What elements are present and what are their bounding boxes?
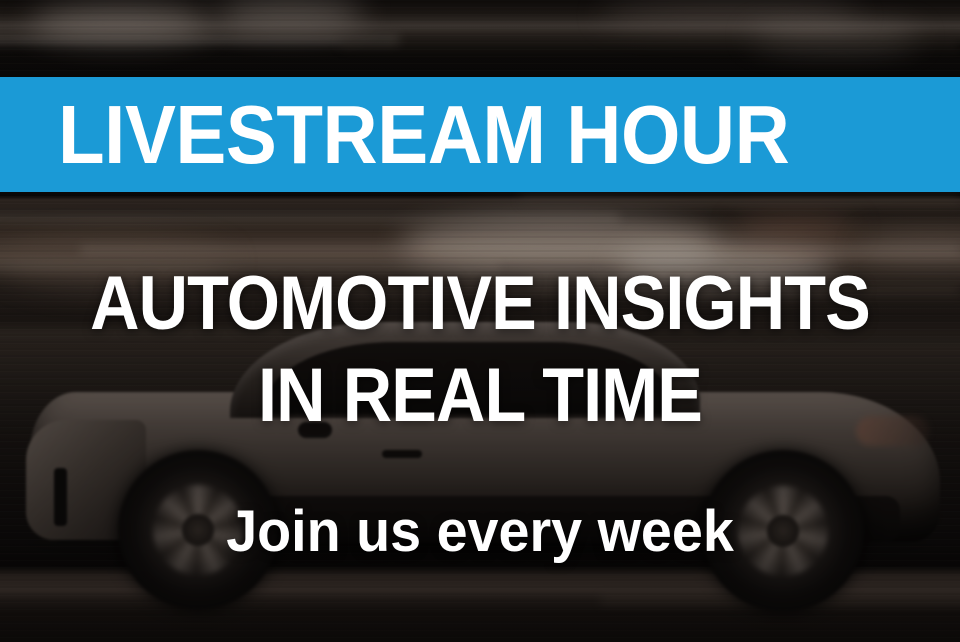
livestream-banner-title: LIVESTREAM HOUR <box>58 93 789 176</box>
promo-banner: LIVESTREAM HOUR AUTOMOTIVE INSIGHTS IN R… <box>0 0 960 642</box>
headline-line-2: IN REAL TIME <box>48 358 912 433</box>
livestream-banner-bar: LIVESTREAM HOUR <box>0 77 960 192</box>
headline-block: AUTOMOTIVE INSIGHTS IN REAL TIME <box>0 266 960 433</box>
tagline: Join us every week <box>19 503 941 561</box>
headline-line-1: AUTOMOTIVE INSIGHTS <box>48 266 912 341</box>
